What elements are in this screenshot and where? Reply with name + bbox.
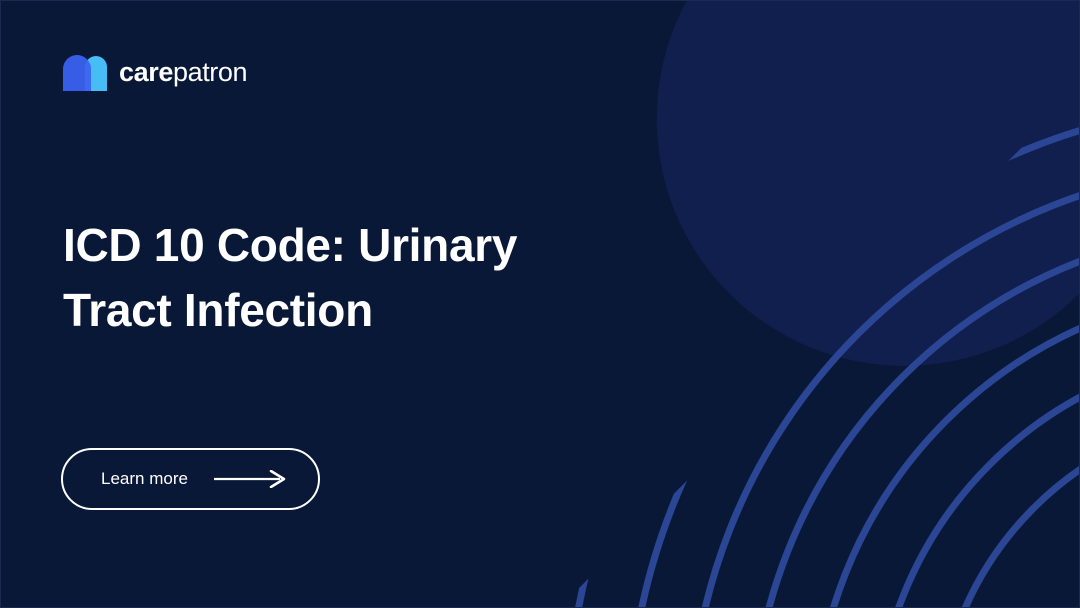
promo-banner: carepatron ICD 10 Code: Urinary Tract In… [0, 0, 1080, 608]
arrow-right-icon [214, 470, 288, 488]
learn-more-label: Learn more [101, 469, 188, 489]
brand-wordmark: carepatron [119, 59, 247, 86]
wordmark-patron: patron [173, 57, 247, 87]
learn-more-button[interactable]: Learn more [61, 448, 320, 510]
decorative-circle [657, 1, 1079, 366]
carepatron-logo-mark-icon [61, 53, 107, 91]
wordmark-care: care [119, 57, 173, 87]
brand-logo-lockup[interactable]: carepatron [61, 53, 247, 91]
page-title: ICD 10 Code: Urinary Tract Infection [63, 213, 623, 344]
